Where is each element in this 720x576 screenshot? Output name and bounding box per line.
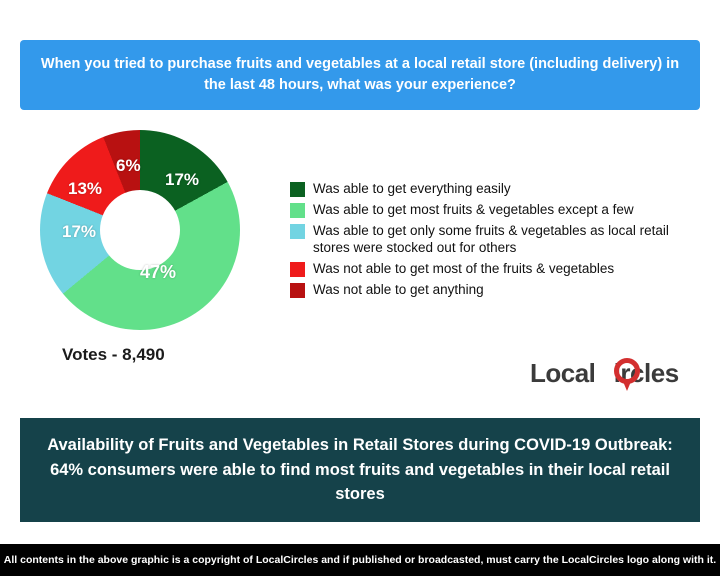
slice-label-1: 47% xyxy=(140,262,176,283)
legend-item: Was not able to get anything xyxy=(290,281,700,299)
donut-chart: 17% 47% 17% 13% 6% Votes - 8,490 xyxy=(22,150,272,310)
legend-item: Was able to get everything easily xyxy=(290,180,700,198)
slice-label-3: 13% xyxy=(68,179,102,199)
copyright-footer: All contents in the above graphic is a c… xyxy=(0,544,720,576)
legend-swatch-icon xyxy=(290,262,305,277)
legend-swatch-icon xyxy=(290,283,305,298)
localcircles-logo: LocalCircles xyxy=(530,352,700,400)
legend-label: Was able to get most fruits & vegetables… xyxy=(313,201,634,219)
legend-item: Was not able to get most of the fruits &… xyxy=(290,260,700,278)
slice-label-0: 17% xyxy=(165,170,199,190)
conclusion-text: Availability of Fruits and Vegetables in… xyxy=(34,433,686,507)
question-banner: When you tried to purchase fruits and ve… xyxy=(20,40,700,110)
question-text: When you tried to purchase fruits and ve… xyxy=(38,54,682,96)
votes-count: Votes - 8,490 xyxy=(62,345,165,365)
chart-legend: Was able to get everything easilyWas abl… xyxy=(290,180,700,302)
donut-wrapper: 17% 47% 17% 13% 6% xyxy=(40,150,240,310)
copyright-text: All contents in the above graphic is a c… xyxy=(4,554,716,566)
legend-label: Was not able to get most of the fruits &… xyxy=(313,260,614,278)
legend-swatch-icon xyxy=(290,182,305,197)
legend-swatch-icon xyxy=(290,224,305,239)
legend-label: Was able to get everything easily xyxy=(313,180,511,198)
slice-label-2: 17% xyxy=(62,222,96,242)
slice-label-4: 6% xyxy=(116,156,141,176)
logo-text-left: Local xyxy=(530,358,595,388)
conclusion-banner: Availability of Fruits and Vegetables in… xyxy=(20,418,700,522)
infographic-page: When you tried to purchase fruits and ve… xyxy=(0,0,720,576)
logo-text: LocalCircles xyxy=(530,358,679,389)
legend-item: Was able to get only some fruits & veget… xyxy=(290,222,700,258)
map-pin-icon xyxy=(622,379,632,391)
legend-label: Was not able to get anything xyxy=(313,281,484,299)
legend-label: Was able to get only some fruits & veget… xyxy=(313,222,700,258)
legend-item: Was able to get most fruits & vegetables… xyxy=(290,201,700,219)
donut-hole xyxy=(100,190,180,270)
legend-swatch-icon xyxy=(290,203,305,218)
